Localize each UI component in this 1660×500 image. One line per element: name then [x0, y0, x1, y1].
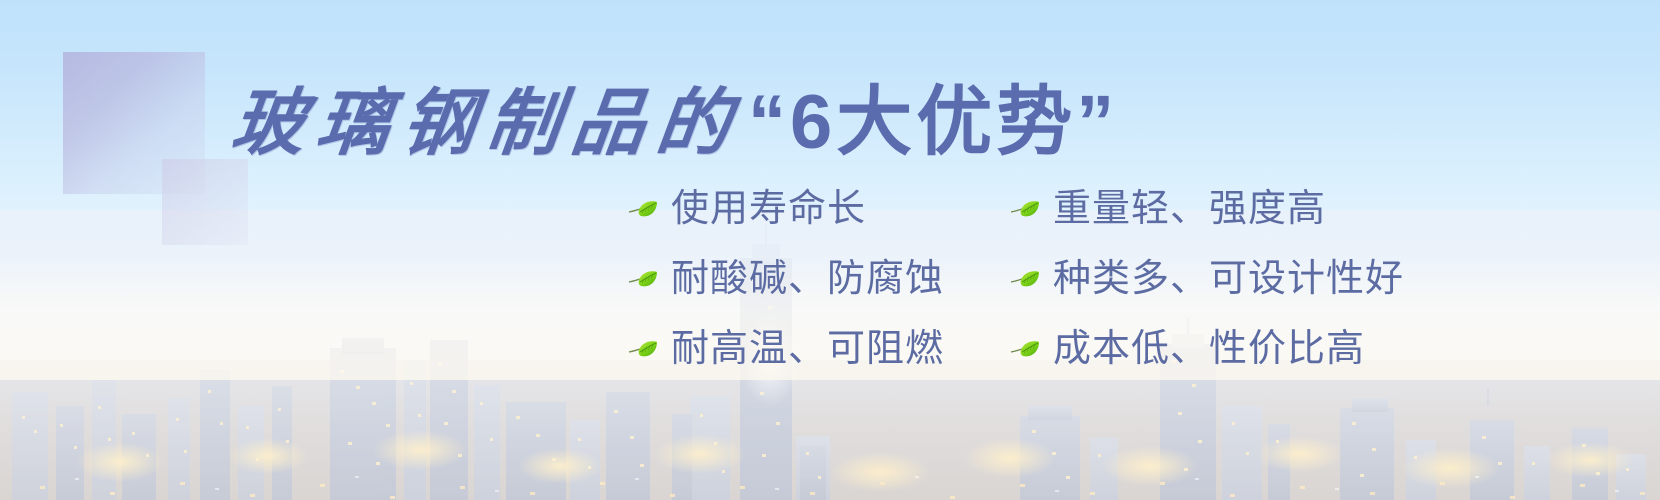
title-brush-text: 玻璃钢制品的	[228, 87, 747, 160]
title-highlight-text: “6大优势”	[748, 85, 1118, 161]
list-item: 重量轻、强度高	[1010, 186, 1404, 231]
decorative-square-large	[63, 52, 205, 194]
list-item-label: 成本低、性价比高	[1053, 330, 1365, 368]
list-item: 成本低、性价比高	[1010, 326, 1404, 371]
list-item: 耐高温、可阻燃	[628, 326, 944, 371]
list-item-label: 种类多、可设计性好	[1053, 260, 1404, 298]
advantages-list: 使用寿命长 耐酸碱、防腐蚀	[628, 186, 1404, 371]
advantages-column-right: 重量轻、强度高 种类多、可设计性好	[1010, 186, 1404, 371]
list-item: 使用寿命长	[628, 186, 944, 231]
leaf-icon	[628, 199, 658, 219]
leaf-icon	[1010, 339, 1040, 359]
list-item-label: 使用寿命长	[671, 190, 866, 228]
leaf-icon	[1010, 199, 1040, 219]
advantages-column-left: 使用寿命长 耐酸碱、防腐蚀	[628, 186, 944, 371]
list-item: 种类多、可设计性好	[1010, 256, 1404, 301]
leaf-icon	[628, 339, 658, 359]
leaf-icon	[1010, 269, 1040, 289]
list-item-label: 耐高温、可阻燃	[671, 330, 944, 368]
list-item-label: 重量轻、强度高	[1053, 190, 1326, 228]
promo-banner: 玻璃钢制品的 “6大优势” 使用寿命长	[0, 0, 1660, 500]
list-item-label: 耐酸碱、防腐蚀	[671, 260, 944, 298]
list-item: 耐酸碱、防腐蚀	[628, 256, 944, 301]
leaf-icon	[628, 269, 658, 289]
banner-title: 玻璃钢制品的 “6大优势”	[232, 85, 1118, 161]
